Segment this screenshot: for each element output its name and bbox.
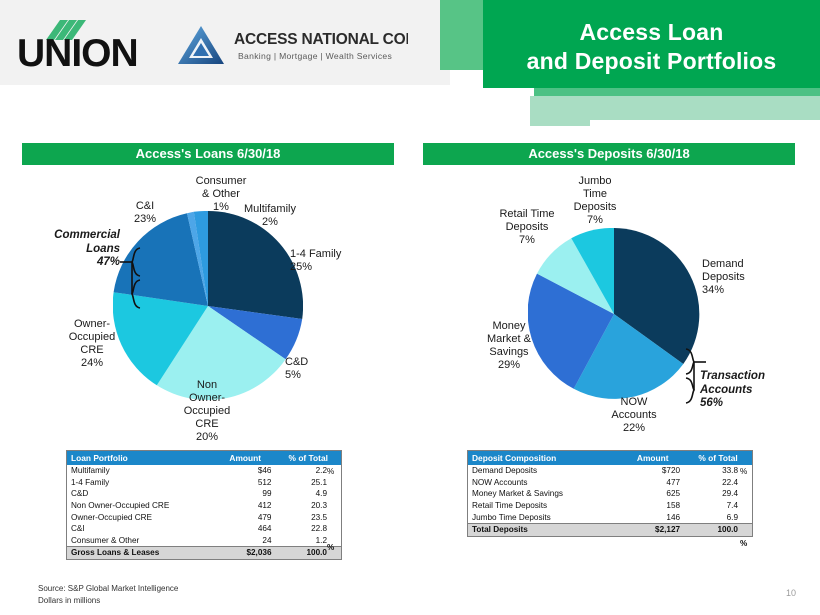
deposits-label-demand-deposits: Demand Deposits 34% (702, 258, 764, 297)
union-logo: UNION (16, 18, 146, 70)
access-national-logo: ACCESS NATIONAL CORPORATION Banking | Mo… (176, 22, 408, 68)
loans-th-name: Loan Portfolio (67, 451, 216, 466)
table-total-row: Gross Loans & Leases$2,036100.0 (67, 547, 342, 560)
row-amount: 146 (621, 511, 684, 523)
deposits-label-retail-time-deposits: Retail Time Deposits 7% (491, 208, 563, 247)
deposits-bracket-icon (684, 347, 708, 407)
row-amount: 477 (621, 477, 684, 489)
loans-table: Loan Portfolio Amount % of Total Multifa… (66, 450, 342, 560)
row-amount: 479 (215, 511, 276, 523)
footer-note: Source: S&P Global Market Intelligence D… (38, 583, 178, 606)
table-row: Non Owner-Occupied CRE41220.3 (67, 500, 342, 512)
table-row: Jumbo Time Deposits1466.9 (468, 511, 753, 523)
deposits-panel-title: Access's Deposits 6/30/18 (423, 143, 795, 165)
loans-label-multifamily: Multifamily 2% (234, 203, 306, 229)
loans-pct-symbol-total: % (327, 543, 334, 552)
table-row: Owner-Occupied CRE47923.5 (67, 511, 342, 523)
row-amount: $46 (215, 465, 276, 477)
row-amount: 625 (621, 488, 684, 500)
table-row: NOW Accounts47722.4 (468, 477, 753, 489)
loans-th-amount: Amount (215, 451, 276, 466)
row-amount: 412 (215, 500, 276, 512)
footer-units: Dollars in millions (38, 595, 178, 607)
deposits-pie-chart (528, 228, 700, 400)
loans-label-ci: C&I 23% (122, 200, 168, 226)
page-number: 10 (786, 588, 796, 598)
deposits-th-pct: % of Total (684, 451, 752, 466)
row-label: Non Owner-Occupied CRE (67, 500, 216, 512)
row-label: C&I (67, 523, 216, 535)
total-label: Total Deposits (468, 523, 622, 536)
row-amount: 512 (215, 477, 276, 489)
deposits-table: Deposit Composition Amount % of Total De… (467, 450, 753, 537)
row-amount: 158 (621, 500, 684, 512)
row-pct: 7.4 (684, 500, 752, 512)
row-pct: 25.1 (276, 477, 342, 489)
total-pct: 100.0 (684, 523, 752, 536)
svg-text:UNION: UNION (17, 32, 138, 70)
deposits-label-money-market-savings: Money Market & Savings 29% (478, 320, 540, 372)
page-title: Access Loan and Deposit Portfolios (483, 18, 820, 77)
deposits-th-amount: Amount (621, 451, 684, 466)
access-logo-tagline: Banking | Mortgage | Wealth Services (238, 51, 392, 61)
row-amount: 464 (215, 523, 276, 535)
row-pct: 23.5 (276, 511, 342, 523)
row-pct: 22.8 (276, 523, 342, 535)
table-row: Multifamily$462.2 (67, 465, 342, 477)
page-title-line2: and Deposit Portfolios (527, 48, 777, 74)
loans-label-owner-occupied-cre: Owner- Occupied CRE 24% (62, 318, 122, 370)
row-label: 1-4 Family (67, 477, 216, 489)
loans-bracket-icon (118, 246, 142, 312)
deposits-pct-symbol-first: % (740, 467, 747, 476)
table-row: Consumer & Other241.2 (67, 535, 342, 547)
row-label: Demand Deposits (468, 465, 622, 477)
page-title-line1: Access Loan (579, 19, 723, 45)
deposits-pct-symbol-total: % (740, 539, 747, 548)
table-total-row: Total Deposits$2,127100.0 (468, 523, 753, 536)
row-amount: 99 (215, 488, 276, 500)
row-label: Consumer & Other (67, 535, 216, 547)
row-pct: 4.9 (276, 488, 342, 500)
row-amount: $720 (621, 465, 684, 477)
total-label: Gross Loans & Leases (67, 547, 216, 560)
loans-panel-title: Access's Loans 6/30/18 (22, 143, 394, 165)
table-row: Retail Time Deposits1587.4 (468, 500, 753, 512)
deposits-label-now-accounts: NOW Accounts 22% (603, 396, 665, 435)
row-pct: 29.4 (684, 488, 752, 500)
row-label: Money Market & Savings (468, 488, 622, 500)
row-label: Jumbo Time Deposits (468, 511, 622, 523)
total-amount: $2,127 (621, 523, 684, 536)
table-header-row: Deposit Composition Amount % of Total (468, 451, 753, 466)
row-label: Retail Time Deposits (468, 500, 622, 512)
loans-pct-symbol-first: % (327, 467, 334, 476)
table-row: Money Market & Savings62529.4 (468, 488, 753, 500)
header-accent-block-left (440, 0, 486, 70)
table-header-row: Loan Portfolio Amount % of Total (67, 451, 342, 466)
loans-th-pct: % of Total (276, 451, 342, 466)
loans-label-cd: C&D 5% (285, 356, 325, 382)
deposits-th-name: Deposit Composition (468, 451, 622, 466)
deposits-label-jumbo-time-deposits: Jumbo Time Deposits 7% (566, 175, 624, 227)
row-label: C&D (67, 488, 216, 500)
row-pct: 22.4 (684, 477, 752, 489)
access-logo-name: ACCESS NATIONAL CORPORATION (234, 31, 408, 48)
table-row: C&I46422.8 (67, 523, 342, 535)
total-amount: $2,036 (215, 547, 276, 560)
row-pct: 6.9 (684, 511, 752, 523)
loans-label-1-4-family: 1-4 Family 25% (290, 248, 360, 274)
table-row: C&D994.9 (67, 488, 342, 500)
row-label: Multifamily (67, 465, 216, 477)
row-label: Owner-Occupied CRE (67, 511, 216, 523)
row-amount: 24 (215, 535, 276, 547)
row-label: NOW Accounts (468, 477, 622, 489)
header-accent-block-pale (530, 96, 590, 126)
table-row: Demand Deposits$72033.8 (468, 465, 753, 477)
table-row: 1-4 Family51225.1 (67, 477, 342, 489)
loans-label-non-owner-occupied-cre: Non Owner- Occupied CRE 20% (176, 379, 238, 444)
loans-annotation-commercial-loans: Commercial Loans 47% (42, 229, 120, 270)
footer-source: Source: S&P Global Market Intelligence (38, 583, 178, 595)
deposits-annotation-transaction-accounts: Transaction Accounts 56% (700, 370, 790, 411)
row-pct: 20.3 (276, 500, 342, 512)
